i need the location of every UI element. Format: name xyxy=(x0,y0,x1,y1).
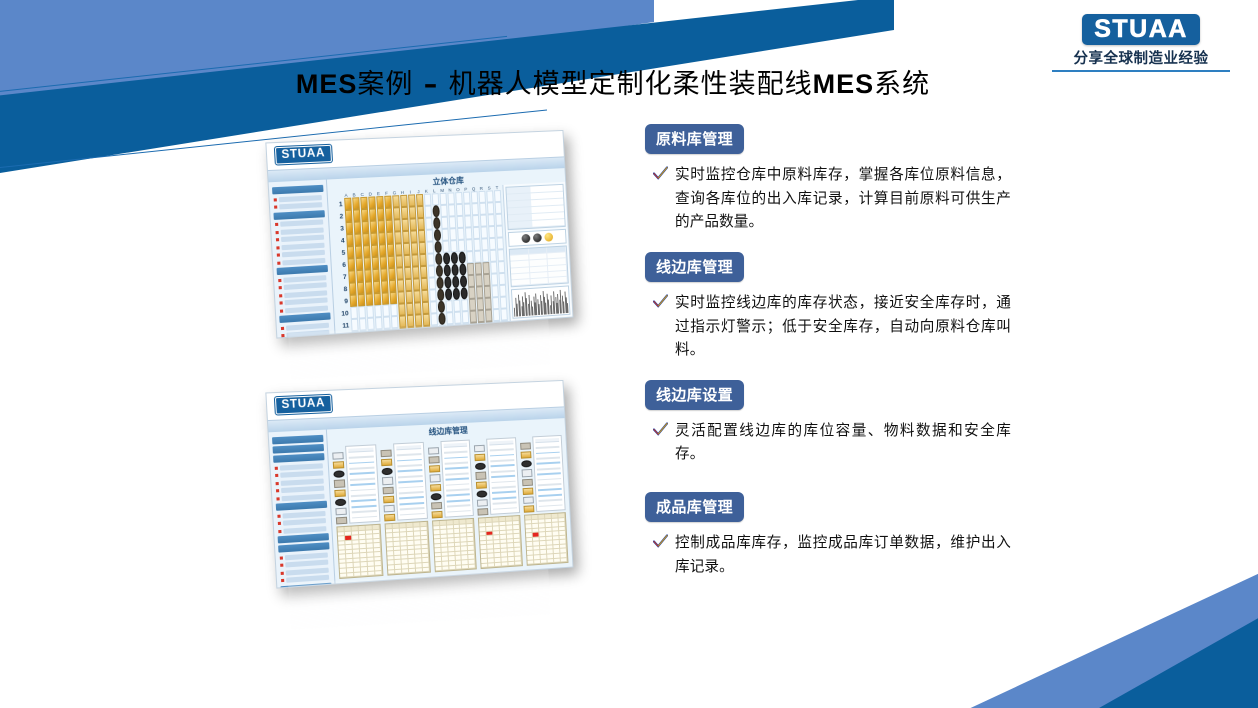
grid-cell[interactable] xyxy=(479,191,487,203)
grid-cell[interactable] xyxy=(368,196,376,208)
grid-cell[interactable] xyxy=(435,253,443,265)
grid-cell[interactable] xyxy=(413,290,421,302)
grid-cell[interactable] xyxy=(358,294,366,307)
grid-cell[interactable] xyxy=(355,246,363,259)
sidebar-item[interactable] xyxy=(286,575,329,583)
grid-cell[interactable] xyxy=(460,275,468,287)
grid-cell[interactable] xyxy=(430,301,438,313)
grid-cell[interactable] xyxy=(387,244,395,256)
sidebar-item[interactable] xyxy=(281,493,324,501)
grid-cell[interactable] xyxy=(374,293,382,306)
grid-cell[interactable] xyxy=(495,214,503,226)
grid-cell[interactable] xyxy=(453,300,461,312)
grid-cell[interactable] xyxy=(466,251,474,263)
grid-cell[interactable] xyxy=(427,253,435,265)
storage-slot[interactable] xyxy=(335,508,347,516)
grid-cell[interactable] xyxy=(364,257,372,270)
grid-cell[interactable] xyxy=(359,318,367,331)
sidebar-item[interactable] xyxy=(282,510,325,518)
grid-cell[interactable] xyxy=(389,280,397,293)
grid-cell[interactable] xyxy=(461,299,469,311)
station-panel[interactable] xyxy=(380,442,431,576)
grid-cell[interactable] xyxy=(463,192,471,204)
grid-cell[interactable] xyxy=(375,317,383,330)
grid-cell[interactable] xyxy=(490,250,498,262)
grid-cell[interactable] xyxy=(495,202,503,214)
grid-cell[interactable] xyxy=(493,321,501,333)
grid-cell[interactable] xyxy=(477,310,485,322)
grid-cell[interactable] xyxy=(417,206,425,218)
app-sidebar[interactable] xyxy=(269,430,336,588)
grid-cell[interactable] xyxy=(447,192,455,204)
grid-cell[interactable] xyxy=(372,269,380,282)
station-panel[interactable] xyxy=(474,437,523,569)
grid-cell[interactable] xyxy=(451,264,459,276)
grid-cell[interactable] xyxy=(358,306,366,319)
grid-cell[interactable] xyxy=(370,233,378,245)
grid-cell[interactable] xyxy=(411,254,419,266)
grid-cell[interactable] xyxy=(468,275,476,287)
station-detail-card[interactable] xyxy=(393,442,428,521)
grid-cell[interactable] xyxy=(390,292,398,305)
storage-slot[interactable] xyxy=(333,461,345,469)
storage-slot[interactable] xyxy=(522,478,533,486)
sidebar-item[interactable] xyxy=(279,202,322,209)
grid-cell[interactable] xyxy=(481,238,489,250)
grid-cell[interactable] xyxy=(405,279,413,291)
sidebar-item[interactable] xyxy=(281,242,324,250)
grid-cell[interactable] xyxy=(485,309,493,321)
sidebar-group-header[interactable] xyxy=(276,501,327,511)
sidebar-group-header[interactable] xyxy=(279,312,330,323)
grid-cell[interactable] xyxy=(479,203,487,215)
warehouse-detail-panel[interactable] xyxy=(503,182,573,321)
grid-cell[interactable] xyxy=(498,261,506,273)
grid-cell[interactable] xyxy=(386,220,394,232)
grid-cell[interactable] xyxy=(434,229,442,241)
storage-slot[interactable] xyxy=(383,496,394,504)
grid-cell[interactable] xyxy=(350,307,358,320)
storage-slot[interactable] xyxy=(522,469,533,477)
sidebar-item[interactable] xyxy=(287,337,330,338)
grid-cell[interactable] xyxy=(393,207,401,219)
grid-cell[interactable] xyxy=(447,324,455,333)
grid-cell[interactable] xyxy=(398,291,406,304)
grid-cell[interactable] xyxy=(469,299,477,311)
sidebar-item[interactable] xyxy=(286,567,329,575)
grid-cell[interactable] xyxy=(478,322,486,334)
grid-cell[interactable] xyxy=(460,287,468,299)
grid-cell[interactable] xyxy=(420,266,428,278)
station-record-table[interactable] xyxy=(384,521,430,576)
record-table[interactable] xyxy=(509,245,569,287)
grid-cell[interactable] xyxy=(411,242,419,254)
grid-cell[interactable] xyxy=(430,313,438,325)
storage-slot[interactable] xyxy=(474,445,485,453)
sidebar-item[interactable] xyxy=(285,560,328,568)
station-detail-card[interactable] xyxy=(487,437,521,515)
grid-cell[interactable] xyxy=(462,323,470,334)
warehouse-grid[interactable]: ABCDEFGHIJKLMNOPQRST 123456789101112 xyxy=(328,185,510,333)
grid-cell[interactable] xyxy=(417,218,425,230)
grid-cell[interactable] xyxy=(480,226,488,238)
grid-cell[interactable] xyxy=(395,243,403,255)
station-detail-card[interactable] xyxy=(345,444,380,524)
sidebar-group-header[interactable] xyxy=(273,444,325,454)
grid-cell[interactable] xyxy=(456,204,464,216)
grid-cell[interactable] xyxy=(406,303,414,315)
grid-cell[interactable] xyxy=(483,274,491,286)
grid-cell[interactable] xyxy=(476,286,484,298)
grid-cell[interactable] xyxy=(446,312,454,324)
station-record-table[interactable] xyxy=(432,518,478,572)
grid-cell[interactable] xyxy=(449,216,457,228)
grid-cell[interactable] xyxy=(445,300,453,312)
grid-cell[interactable] xyxy=(418,230,426,242)
grid-cell[interactable] xyxy=(396,267,404,279)
storage-slot[interactable] xyxy=(521,451,532,459)
grid-cell[interactable] xyxy=(391,316,399,329)
storage-slot[interactable] xyxy=(383,505,394,513)
station-panel[interactable] xyxy=(520,435,569,566)
grid-cell[interactable] xyxy=(442,240,450,252)
grid-cell[interactable] xyxy=(458,251,466,263)
grid-cell[interactable] xyxy=(394,231,402,243)
grid-cell[interactable] xyxy=(388,256,396,268)
grid-cell[interactable] xyxy=(401,219,409,231)
grid-cell[interactable] xyxy=(360,197,368,209)
grid-cell[interactable] xyxy=(361,209,369,221)
grid-cell[interactable] xyxy=(380,256,388,268)
grid-cell[interactable] xyxy=(473,227,481,239)
grid-cell[interactable] xyxy=(392,328,400,334)
grid-cell[interactable] xyxy=(428,277,436,289)
grid-cell[interactable] xyxy=(486,321,494,333)
storage-slot[interactable] xyxy=(429,465,440,473)
grid-cell[interactable] xyxy=(388,268,396,280)
storage-slot[interactable] xyxy=(476,481,487,489)
grid-cell[interactable] xyxy=(419,254,427,266)
grid-cell[interactable] xyxy=(346,234,354,247)
storage-slot[interactable] xyxy=(430,484,441,492)
grid-cell[interactable] xyxy=(366,305,374,318)
grid-cell[interactable] xyxy=(470,322,478,333)
grid-cell[interactable] xyxy=(398,303,406,316)
grid-cell[interactable] xyxy=(356,258,364,271)
grid-cell[interactable] xyxy=(414,302,422,314)
sidebar-group-header[interactable] xyxy=(273,453,325,463)
grid-cell[interactable] xyxy=(466,239,474,251)
sidebar-item[interactable] xyxy=(285,552,328,560)
grid-cell[interactable] xyxy=(468,287,476,299)
grid-cell[interactable] xyxy=(448,204,456,216)
grid-cell[interactable] xyxy=(457,228,465,240)
grid-cell[interactable] xyxy=(416,194,424,206)
grid-cell[interactable] xyxy=(471,191,479,203)
grid-cell[interactable] xyxy=(499,285,507,297)
grid-cell[interactable] xyxy=(376,196,384,208)
grid-cell[interactable] xyxy=(439,324,447,333)
station-record-table[interactable] xyxy=(524,512,568,565)
grid-cell[interactable] xyxy=(345,210,353,223)
grid-cell[interactable] xyxy=(368,330,376,334)
grid-cell[interactable] xyxy=(402,231,410,243)
grid-cell[interactable] xyxy=(403,255,411,267)
sidebar-group-header[interactable] xyxy=(272,185,324,195)
grid-cell[interactable] xyxy=(482,262,490,274)
sidebar-group-header[interactable] xyxy=(273,210,325,220)
storage-slot[interactable] xyxy=(431,511,442,519)
grid-cell[interactable] xyxy=(432,205,440,217)
storage-slot[interactable] xyxy=(384,514,395,522)
sidebar-item[interactable] xyxy=(281,235,324,243)
storage-slot[interactable] xyxy=(523,496,534,504)
station-record-table[interactable] xyxy=(478,515,523,569)
grid-cell[interactable] xyxy=(464,215,472,227)
grid-cell[interactable] xyxy=(409,206,417,218)
grid-cell[interactable] xyxy=(499,273,507,285)
grid-cell[interactable] xyxy=(487,202,495,214)
grid-cell[interactable] xyxy=(419,242,427,254)
grid-cell[interactable] xyxy=(357,282,365,295)
sidebar-item[interactable] xyxy=(286,330,329,338)
sidebar-item[interactable] xyxy=(280,470,323,477)
sidebar-item[interactable] xyxy=(281,227,324,234)
grid-cell[interactable] xyxy=(455,192,463,204)
station-panel[interactable] xyxy=(332,444,383,579)
grid-cell[interactable] xyxy=(465,227,473,239)
grid-cell[interactable] xyxy=(491,285,499,297)
sidebar-item[interactable] xyxy=(284,290,327,298)
grid-cell[interactable] xyxy=(475,274,483,286)
grid-cell[interactable] xyxy=(382,304,390,317)
grid-cell[interactable] xyxy=(410,230,418,242)
grid-cell[interactable] xyxy=(382,292,390,305)
grid-cell[interactable] xyxy=(491,273,499,285)
grid-cell[interactable] xyxy=(396,255,404,267)
grid-cell[interactable] xyxy=(367,317,375,330)
grid-cell[interactable] xyxy=(354,221,362,234)
storage-slot[interactable] xyxy=(523,487,534,495)
grid-cell[interactable] xyxy=(365,281,373,294)
grid-cell[interactable] xyxy=(464,203,472,215)
grid-cell[interactable] xyxy=(362,221,370,233)
grid-cell[interactable] xyxy=(450,240,458,252)
sidebar-item[interactable] xyxy=(283,275,326,283)
storage-slot[interactable] xyxy=(521,460,532,468)
storage-slot[interactable] xyxy=(477,499,488,507)
sidebar-item[interactable] xyxy=(283,526,326,534)
storage-slot[interactable] xyxy=(381,459,392,467)
grid-cell[interactable] xyxy=(397,279,405,291)
grid-cell[interactable] xyxy=(427,241,435,253)
grid-cell[interactable] xyxy=(452,276,460,288)
station-detail-card[interactable] xyxy=(440,440,474,518)
grid-cell[interactable] xyxy=(409,218,417,230)
grid-cell[interactable] xyxy=(370,220,378,232)
grid-cell[interactable] xyxy=(429,289,437,301)
station-panel-row[interactable] xyxy=(328,432,573,584)
grid-cell[interactable] xyxy=(348,258,356,271)
grid-cell[interactable] xyxy=(438,313,446,325)
grid-cell[interactable] xyxy=(421,290,429,302)
sidebar-item[interactable] xyxy=(285,305,328,313)
grid-cell[interactable] xyxy=(436,265,444,277)
grid-cell[interactable] xyxy=(404,267,412,279)
grid-cell[interactable] xyxy=(348,270,356,283)
grid-cell[interactable] xyxy=(474,251,482,263)
grid-cell[interactable] xyxy=(473,239,481,251)
grid-cell[interactable] xyxy=(492,297,500,309)
grid-cell[interactable] xyxy=(500,296,508,308)
grid-cell[interactable] xyxy=(489,238,497,250)
grid-cell[interactable] xyxy=(366,293,374,306)
storage-slot[interactable] xyxy=(429,475,440,483)
grid-cell[interactable] xyxy=(497,249,505,261)
grid-cell[interactable] xyxy=(347,246,355,259)
grid-cell[interactable] xyxy=(381,280,389,293)
grid-cell[interactable] xyxy=(415,314,423,326)
grid-cell[interactable] xyxy=(449,228,457,240)
storage-slot[interactable] xyxy=(334,480,346,488)
grid-cell[interactable] xyxy=(351,319,359,332)
grid-cell[interactable] xyxy=(353,209,361,222)
sidebar-group-header[interactable] xyxy=(272,435,324,445)
storage-slot[interactable] xyxy=(382,477,393,485)
grid-cell[interactable] xyxy=(378,232,386,244)
grid-cell[interactable] xyxy=(471,203,479,215)
grid-cell[interactable] xyxy=(425,217,433,229)
grid-cell[interactable] xyxy=(400,195,408,207)
grid-cell[interactable] xyxy=(434,241,442,253)
storage-slot[interactable] xyxy=(524,505,535,513)
grid-cell[interactable] xyxy=(383,316,391,329)
station-record-table[interactable] xyxy=(336,524,383,579)
storage-slot[interactable] xyxy=(430,493,441,501)
grid-cell[interactable] xyxy=(372,257,380,270)
sidebar-item[interactable] xyxy=(285,297,328,305)
storage-slot[interactable] xyxy=(334,489,346,497)
grid-cell[interactable] xyxy=(424,194,432,206)
grid-cell[interactable] xyxy=(453,288,461,300)
grid-cell[interactable] xyxy=(488,214,496,226)
grid-cell[interactable] xyxy=(493,309,501,321)
storage-slot[interactable] xyxy=(475,454,486,462)
grid-cell[interactable] xyxy=(408,194,416,206)
grid-cell[interactable] xyxy=(451,252,459,264)
grid-cell[interactable] xyxy=(374,305,382,318)
grid-cell[interactable] xyxy=(500,308,508,320)
grid-cell[interactable] xyxy=(494,190,502,202)
grid-cell[interactable] xyxy=(422,302,430,314)
grid-cell[interactable] xyxy=(441,217,449,229)
grid-cell[interactable] xyxy=(490,261,498,273)
sidebar-group-header[interactable] xyxy=(277,265,328,275)
grid-cell[interactable] xyxy=(431,325,439,333)
grid-cell[interactable] xyxy=(415,326,423,333)
grid-cell[interactable] xyxy=(445,288,453,300)
station-panel[interactable] xyxy=(427,440,477,573)
grid-cell[interactable] xyxy=(384,328,392,333)
screenshot-warehouse-overview[interactable]: STUAA xyxy=(272,136,572,326)
grid-cell[interactable] xyxy=(484,286,492,298)
grid-cell[interactable] xyxy=(401,207,409,219)
grid-cell[interactable] xyxy=(376,329,384,333)
grid-cell[interactable] xyxy=(443,252,451,264)
grid-cell[interactable] xyxy=(438,301,446,313)
sidebar-item[interactable] xyxy=(286,322,329,330)
grid-cell[interactable] xyxy=(467,263,475,275)
storage-slot[interactable] xyxy=(475,463,486,471)
grid-cell[interactable] xyxy=(462,311,470,323)
sidebar-item[interactable] xyxy=(284,282,327,290)
grid-cell[interactable] xyxy=(346,222,354,235)
grid-cell[interactable] xyxy=(428,265,436,277)
sidebar-group-header[interactable] xyxy=(280,582,331,588)
grid-cell[interactable] xyxy=(477,298,485,310)
grid-cell[interactable] xyxy=(352,197,360,209)
grid-cell[interactable] xyxy=(386,232,394,244)
sidebar-group-header[interactable] xyxy=(278,542,329,552)
storage-slot[interactable] xyxy=(381,468,392,476)
grid-cell[interactable] xyxy=(459,263,467,275)
grid-cell[interactable] xyxy=(421,278,429,290)
grid-cell[interactable] xyxy=(350,294,358,307)
storage-slot[interactable] xyxy=(333,471,345,479)
grid-cell[interactable] xyxy=(344,198,352,211)
grid-cell[interactable] xyxy=(379,244,387,256)
storage-slot[interactable] xyxy=(332,452,344,460)
station-detail-card[interactable] xyxy=(532,435,565,512)
grid-cell[interactable] xyxy=(475,262,483,274)
grid-cell[interactable] xyxy=(380,268,388,281)
sidebar-item[interactable] xyxy=(280,219,323,226)
storage-slot[interactable] xyxy=(428,447,439,455)
grid-cell[interactable] xyxy=(457,216,465,228)
grid-cell[interactable] xyxy=(444,276,452,288)
sidebar-item[interactable] xyxy=(281,486,324,494)
grid-cell[interactable] xyxy=(470,310,478,322)
grid-cell[interactable] xyxy=(363,245,371,258)
storage-slot[interactable] xyxy=(335,498,347,506)
storage-slot[interactable] xyxy=(431,502,442,510)
sidebar-item[interactable] xyxy=(281,478,324,485)
sidebar-item[interactable] xyxy=(282,250,325,258)
grid-cell[interactable] xyxy=(360,330,368,333)
grid-cell[interactable] xyxy=(412,266,420,278)
grid-cell[interactable] xyxy=(364,269,372,282)
grid-cell[interactable] xyxy=(354,233,362,246)
detail-form[interactable] xyxy=(506,184,566,230)
grid-cell[interactable] xyxy=(480,214,488,226)
grid-cell[interactable] xyxy=(403,243,411,255)
grid-cell[interactable] xyxy=(407,327,415,334)
grid-cell[interactable] xyxy=(423,314,431,326)
grid-cell[interactable] xyxy=(442,229,450,241)
grid-cell[interactable] xyxy=(384,196,392,208)
grid-cell[interactable] xyxy=(349,282,357,295)
grid-cell[interactable] xyxy=(405,291,413,303)
grid-cell[interactable] xyxy=(377,208,385,220)
grid-cell[interactable] xyxy=(385,208,393,220)
grid-cell[interactable] xyxy=(454,311,462,323)
grid-cell[interactable] xyxy=(425,205,433,217)
sidebar-item[interactable] xyxy=(283,518,326,526)
storage-slot[interactable] xyxy=(477,490,488,498)
sidebar-item[interactable] xyxy=(280,463,323,470)
grid-cell[interactable] xyxy=(440,205,448,217)
grid-cell[interactable] xyxy=(497,237,505,249)
